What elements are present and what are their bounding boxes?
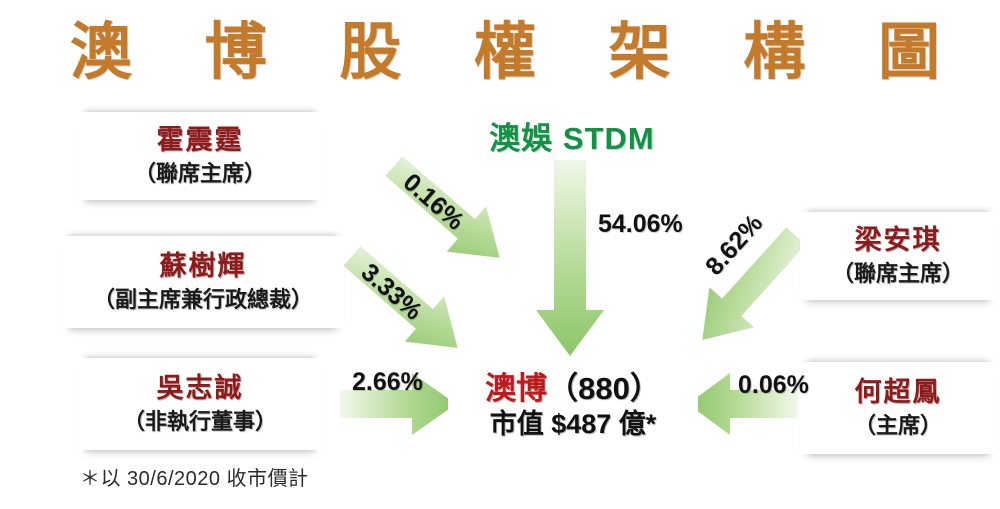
- person-name: 蘇樹輝: [160, 251, 247, 283]
- person-role: （非執行董事）: [123, 409, 277, 435]
- person-card-so-shu-fai: 蘇樹輝 （副主席兼行政總裁）: [62, 236, 344, 328]
- person-role: （聯席主席）: [832, 261, 964, 287]
- person-role: （聯席主席）: [134, 161, 266, 187]
- entity-node-smi: 澳博（880） 市值 $487 億*: [448, 364, 698, 448]
- person-card-leong-on-kei: 梁安琪 （聯席主席）: [800, 212, 996, 300]
- entity-ticker: （880）: [547, 371, 661, 406]
- person-role: （副主席兼行政總裁）: [93, 287, 313, 313]
- edge-label-ng: 2.66%: [352, 368, 423, 397]
- person-card-ho-chiu-fung: 何超鳳 （主席）: [800, 362, 996, 454]
- entity-main-line: 澳博（880）: [485, 371, 661, 407]
- edge-label-stdm: 54.06%: [598, 210, 683, 239]
- person-role: （主席）: [854, 413, 942, 439]
- entity-valuation: 市值 $487 億*: [490, 408, 657, 440]
- person-name: 吳志誠: [157, 373, 244, 405]
- person-card-ng-chi-sing: 吳志誠 （非執行董事）: [78, 358, 322, 450]
- entity-name-cn: 澳博: [485, 371, 547, 406]
- entity-node-stdm: 澳娛 STDM: [452, 112, 692, 158]
- shareholding-structure-infographic: 澳 博 股 權 架 構 圖: [0, 0, 1000, 509]
- entity-label: 澳娛 STDM: [489, 113, 654, 158]
- person-name: 梁安琪: [855, 225, 942, 257]
- person-name: 霍震霆: [157, 125, 244, 157]
- person-card-huo-chun-ting: 霍震霆 （聯席主席）: [78, 112, 322, 200]
- arrow-stdm-to-smi: [536, 160, 604, 356]
- edge-label-ho: 0.06%: [738, 371, 809, 400]
- person-name: 何超鳳: [855, 377, 942, 409]
